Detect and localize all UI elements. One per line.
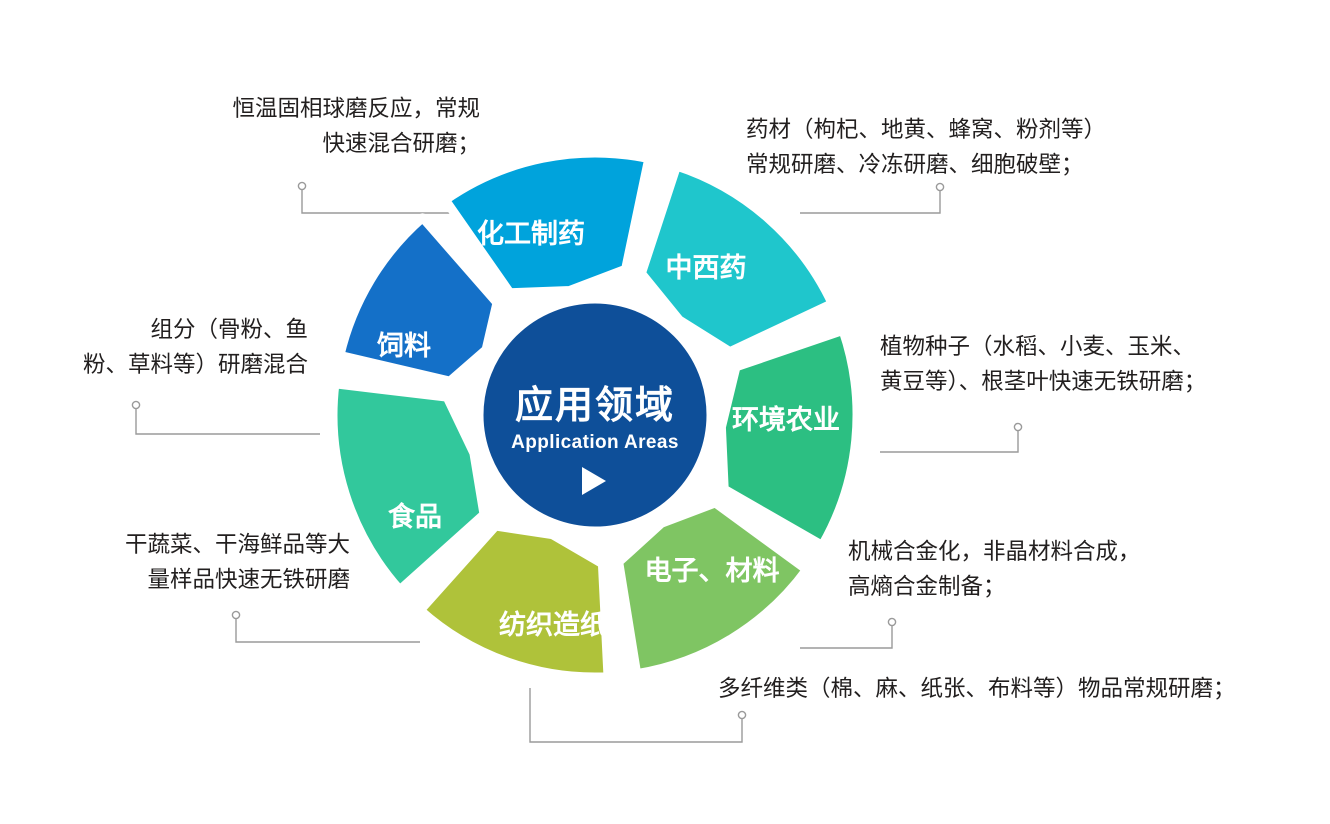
- petal-label-environment-agriculture: 环境农业: [732, 405, 840, 435]
- leader-feed: [136, 406, 320, 434]
- callout-food-note: 干蔬菜、干海鲜品等大 量样品快速无铁研磨: [60, 528, 350, 598]
- center-title-en: Application Areas: [511, 432, 679, 453]
- callout-chinese-western-medicine-note: 药材（枸杞、地黄、蜂窝、粉剂等） 常规研磨、冷冻研磨、细胞破壁；: [746, 113, 1176, 183]
- leader-food-endpoint-dot: [232, 611, 239, 618]
- leader-food: [236, 616, 420, 642]
- callout-chemical-pharma-note: 恒温固相球磨反应，常规 快速混合研磨；: [120, 92, 480, 162]
- callout-feed-note: 组分（骨粉、鱼 粉、草料等）研磨混合: [28, 313, 308, 383]
- petal-electronics-materials[interactable]: [619, 503, 807, 674]
- leader-chinese-western-medicine: [800, 188, 940, 213]
- callout-electronics-materials-note: 机械合金化，非晶材料合成， 高熵合金制备；: [848, 535, 1208, 605]
- callout-environment-agriculture-note: 植物种子（水稻、小麦、玉米、 黄豆等）、根茎叶快速无铁研磨；: [880, 330, 1280, 400]
- leader-chemical-pharma-endpoint-dot: [298, 182, 305, 189]
- infographic-stage: 应用领域 Application Areas 化工制药中西药环境农业电子、材料纺…: [0, 0, 1330, 824]
- leader-textile-paper: [530, 688, 742, 742]
- leader-chinese-western-medicine-endpoint-dot: [936, 183, 943, 190]
- callout-textile-paper-note: 多纤维类（棉、麻、纸张、布料等）物品常规研磨；: [718, 672, 1318, 707]
- leader-environment-agriculture: [880, 428, 1018, 452]
- petal-label-food: 食品: [388, 501, 442, 532]
- leader-electronics-materials: [800, 623, 892, 648]
- petal-environment-agriculture[interactable]: [721, 330, 857, 545]
- petal-label-textile-paper: 纺织造纸: [499, 609, 607, 640]
- petal-label-feed: 饲料: [376, 331, 431, 361]
- petal-label-chinese-western-medicine: 中西药: [666, 253, 747, 283]
- petal-label-electronics-materials: 电子、材料: [645, 556, 780, 586]
- leader-electronics-materials-endpoint-dot: [888, 618, 895, 625]
- petal-label-chemical-pharma: 化工制药: [477, 219, 585, 249]
- leader-textile-paper-endpoint-dot: [738, 711, 745, 718]
- leader-environment-agriculture-endpoint-dot: [1014, 423, 1021, 430]
- center-title-cn: 应用领域: [515, 385, 675, 427]
- leader-feed-endpoint-dot: [132, 401, 139, 408]
- center-hub-group: 应用领域 Application Areas: [479, 299, 711, 531]
